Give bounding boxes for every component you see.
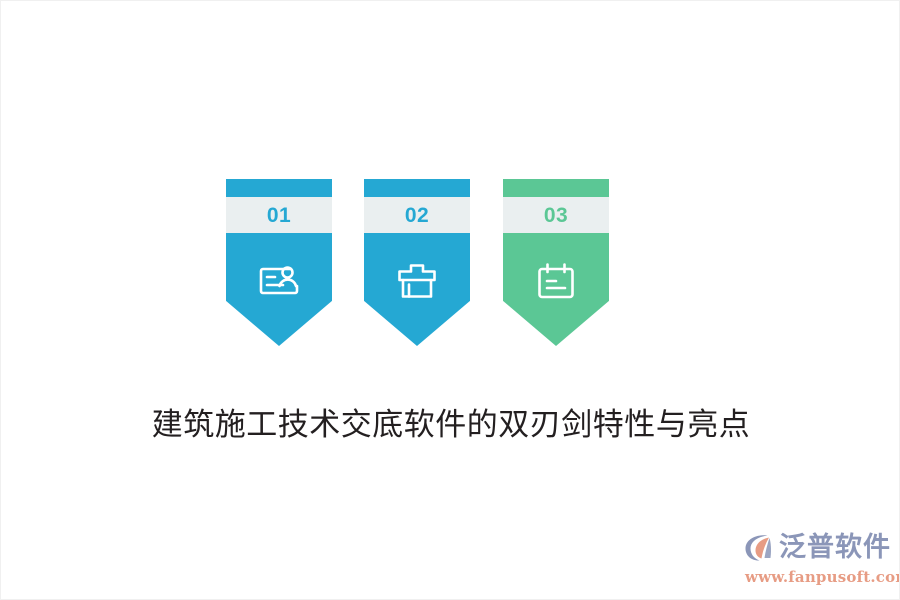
banner-item-03[interactable]: 03 [503,179,609,346]
banner-number-02: 02 [405,205,429,226]
banner-item-01[interactable]: 01 [226,179,332,346]
id-card-icon [226,257,332,305]
watermark-logo: 泛普软件 www.fanpusoft.com [745,527,891,589]
banner-number-band-01: 01 [226,197,332,233]
fanpu-logo-mark-icon [742,530,776,564]
storefront-icon [364,257,470,305]
banner-item-02[interactable]: 02 [364,179,470,346]
watermark-url-text: www.fanpusoft.com [745,567,891,585]
clipboard-notes-icon [503,257,609,305]
banner-number-band-03: 03 [503,197,609,233]
banner-number-band-02: 02 [364,197,470,233]
banner-number-01: 01 [267,205,291,226]
watermark-brand-text: 泛普软件 [779,534,891,561]
page-title: 建筑施工技术交底软件的双刃剑特性与亮点 [1,405,900,447]
banner-group: 01 02 [226,179,608,349]
banner-number-03: 03 [544,205,568,226]
watermark-brand-row: 泛普软件 [745,527,891,567]
infographic-page: 01 02 [0,0,900,600]
